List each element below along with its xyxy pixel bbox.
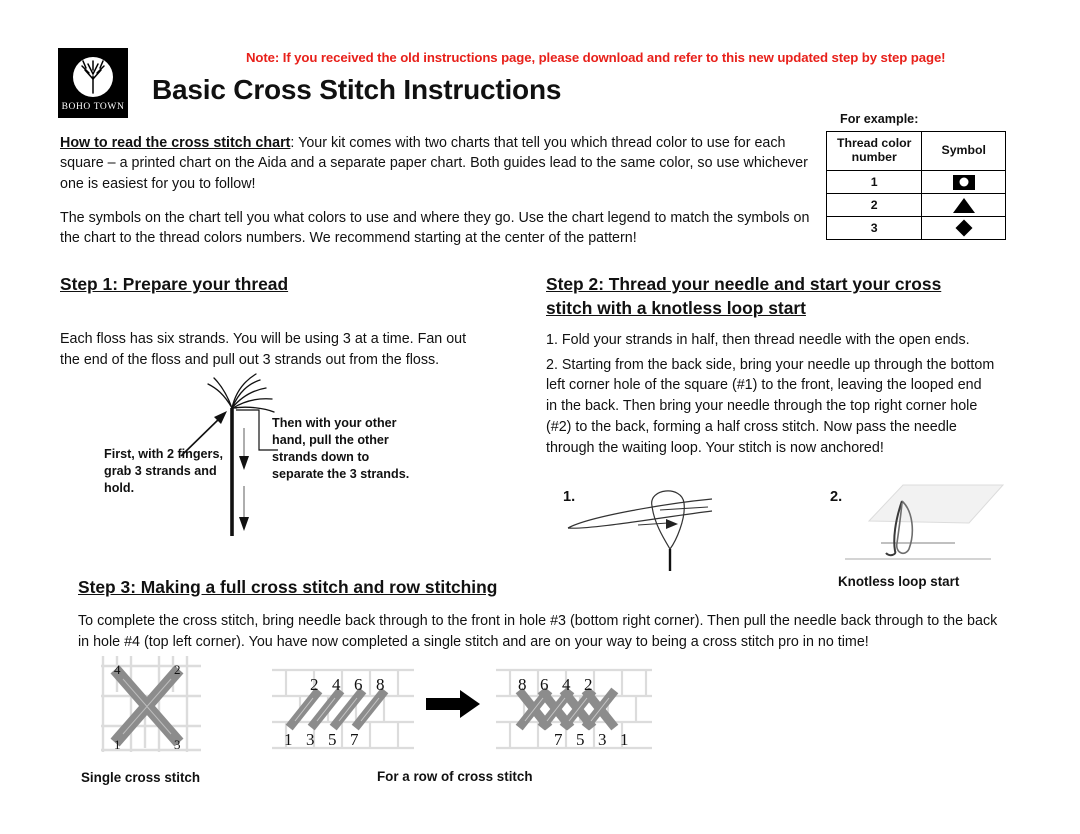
page-title: Basic Cross Stitch Instructions (152, 74, 561, 106)
floss-caption-right: Then with your other hand, pull the othe… (272, 415, 412, 483)
arrow-right-icon (424, 688, 484, 720)
step2-item-2: 2. Starting from the back side, bring yo… (546, 355, 996, 459)
knotless-loop-caption: Knotless loop start (838, 574, 959, 589)
row2-top-label-4: 2 (584, 675, 593, 694)
symbol-cell (922, 171, 1006, 194)
table-row: 3 (827, 217, 1006, 240)
symbol-cell (922, 194, 1006, 217)
row2-bottom-label-1: 7 (554, 730, 563, 749)
row1-top-label-3: 6 (354, 675, 363, 694)
intro-paragraph-1: How to read the cross stitch chart: Your… (60, 133, 816, 194)
column-header-thread-color-number: Thread color number (827, 132, 922, 171)
knotless-loop-start-diagram (845, 481, 1005, 576)
stitch-number-1: 1 (114, 737, 121, 752)
square-with-circle-icon (953, 175, 975, 190)
row2-bottom-label-3: 3 (598, 730, 607, 749)
intro-text: How to read the cross stitch chart: Your… (60, 133, 816, 262)
row1-bottom-label-2: 3 (306, 730, 315, 749)
row2-bottom-label-2: 5 (576, 730, 585, 749)
row1-bottom-label-1: 1 (284, 730, 293, 749)
step2-body: 1. Fold your strands in half, then threa… (546, 330, 996, 462)
row2-top-label-2: 6 (540, 675, 549, 694)
needle-threading-diagram (560, 483, 760, 573)
stitch-number-4: 4 (114, 662, 121, 677)
diamond-icon (955, 220, 972, 237)
step1-heading: Step 1: Prepare your thread (60, 272, 288, 296)
document-page: BOHO TOWN Note: If you received the old … (0, 0, 1080, 834)
step2-heading: Step 2: Thread your needle and start you… (546, 272, 976, 320)
intro-paragraph-2: The symbols on the chart tell you what c… (60, 208, 816, 249)
row-second-pass-diagram: 8 6 4 2 7 5 3 1 (492, 652, 656, 756)
logo-wordmark: BOHO TOWN (62, 102, 125, 112)
logo-tree-icon: BOHO TOWN (58, 48, 128, 118)
figure-2-number: 2. (830, 489, 842, 505)
thread-number-cell: 1 (827, 171, 922, 194)
update-note: Note: If you received the old instructio… (246, 50, 1046, 65)
column-header-symbol: Symbol (922, 132, 1006, 171)
stitch-number-3: 3 (174, 737, 181, 752)
row1-top-label-4: 8 (376, 675, 385, 694)
table-header-row: Thread color number Symbol (827, 132, 1006, 171)
row1-bottom-label-4: 7 (350, 730, 359, 749)
table-row: 1 (827, 171, 1006, 194)
step2-item-1: 1. Fold your strands in half, then threa… (546, 330, 996, 351)
floss-caption-left: First, with 2 fingers, grab 3 strands an… (104, 446, 234, 497)
single-cross-stitch-diagram: 4 2 1 3 (97, 652, 205, 756)
stitch-number-2: 2 (174, 662, 181, 677)
table-row: 2 (827, 194, 1006, 217)
row2-top-label-1: 8 (518, 675, 527, 694)
step1-body: Each floss has six strands. You will be … (60, 329, 480, 370)
symbol-cell (922, 217, 1006, 240)
row1-bottom-label-3: 5 (328, 730, 337, 749)
boho-town-logo: BOHO TOWN (58, 48, 128, 118)
row1-top-label-2: 4 (332, 675, 341, 694)
caption-row-of-cross-stitch: For a row of cross stitch (377, 769, 533, 784)
step3-body: To complete the cross stitch, bring need… (78, 611, 1003, 652)
row2-top-label-3: 4 (562, 675, 571, 694)
row1-top-label-1: 2 (310, 675, 319, 694)
thread-symbol-legend-table: Thread color number Symbol 1 2 3 (826, 131, 1006, 240)
row-first-pass-diagram: 2 4 6 8 1 3 5 7 (268, 652, 418, 756)
row2-bottom-label-4: 1 (620, 730, 629, 749)
step3-heading: Step 3: Making a full cross stitch and r… (78, 575, 497, 599)
example-label: For example: (840, 112, 918, 126)
intro-lead: How to read the cross stitch chart (60, 135, 290, 151)
thread-number-cell: 2 (827, 194, 922, 217)
caption-single-cross-stitch: Single cross stitch (81, 770, 200, 785)
triangle-icon (953, 198, 975, 213)
thread-number-cell: 3 (827, 217, 922, 240)
